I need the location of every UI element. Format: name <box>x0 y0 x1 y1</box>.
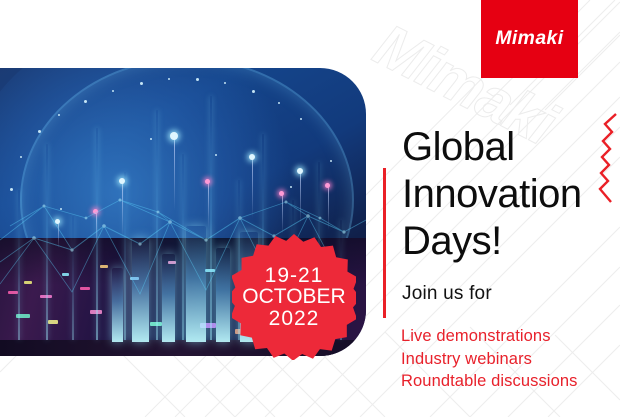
promo-banner: Mimaki <box>0 0 620 417</box>
badge-year: 2022 <box>242 308 345 329</box>
red-squiggle-icon <box>596 112 620 204</box>
badge-month: OCTOBER <box>242 286 345 307</box>
list-item: Live demonstrations <box>401 325 619 348</box>
activity-list: Live demonstrations Industry webinars Ro… <box>401 325 619 393</box>
date-badge: 19-21 OCTOBER 2022 <box>232 234 356 360</box>
subhead-text: Join us for <box>402 283 492 305</box>
list-item: Roundtable discussions <box>401 370 619 393</box>
red-accent-bar <box>383 168 386 318</box>
mimaki-logo-text: Mimaki <box>495 28 563 50</box>
date-badge-text: 19-21 OCTOBER 2022 <box>242 265 345 329</box>
badge-days: 19-21 <box>242 265 345 286</box>
title-line-2: Innovation <box>402 171 617 218</box>
mimaki-logo: Mimaki <box>481 0 578 78</box>
list-item: Industry webinars <box>401 348 619 371</box>
title-line-3: Days! <box>402 218 617 265</box>
page-title: Global Innovation Days! <box>402 124 617 265</box>
title-line-1: Global <box>402 124 617 171</box>
